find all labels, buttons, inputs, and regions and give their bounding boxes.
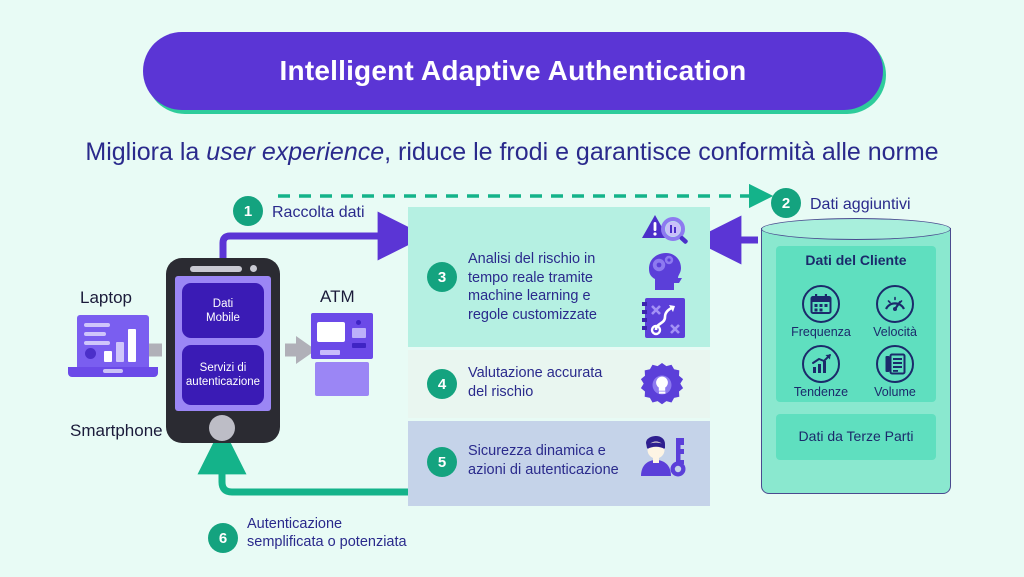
subtitle-emphasis: user experience [206,138,384,166]
document-stack-icon [876,345,914,383]
laptop-trackpad-notch [103,369,123,373]
data-store-cylinder-top [761,218,951,240]
atm-card-slot [352,328,366,338]
user-key-icon [638,436,690,483]
phone-card-servizi-autenticazione: Servizi di autenticazione [182,345,264,405]
metric-frequenza: Frequenza [785,285,857,339]
strategy-board-icon [640,296,688,345]
customer-data-heading: Dati del Cliente [776,252,936,268]
step-badge-6: 6 [208,523,238,553]
step-badge-5: 5 [427,447,457,477]
risk-magnifier-icon [640,213,690,254]
step-badge-4: 4 [427,369,457,399]
metric-volume: Volume [859,345,931,399]
metric-velocita: Velocità [859,285,931,339]
step-label-1: Raccolta dati [272,204,365,222]
step-badge-3: 3 [427,262,457,292]
step-badge-2: 2 [771,188,801,218]
step-4-line1: Valutazione accurata [468,365,602,381]
phone-card-1-line2: Mobile [206,312,240,324]
atm-indicator-light [356,320,361,325]
step-5-line1: Sicurezza dinamica e [468,443,606,459]
phone-card-2-line2: autenticazione [186,376,260,388]
gear-bulb-icon [639,362,685,413]
step-6-line2: semplificata o potenziata [247,534,407,550]
calendar-icon [802,285,840,323]
page-subtitle: Migliora la user experience, riduce le f… [0,138,1024,167]
flow-arrow-phone-to-analysis [223,236,400,258]
step-3-line2: tempo reale tramite [468,270,593,286]
smartphone-camera [250,265,257,272]
atm-label: ATM [320,287,355,307]
step-label-3: Analisi del rischio in tempo reale trami… [468,250,597,324]
laptop-icon [77,315,149,367]
atm-base [315,362,369,396]
metric-label-volume: Volume [859,385,931,399]
page-title: Intelligent Adaptive Authentication [280,55,747,87]
laptop-label: Laptop [80,288,132,308]
step-label-2: Dati aggiuntivi [810,196,911,214]
smartphone-label: Smartphone [70,421,163,441]
subtitle-part-before: Migliora la [85,138,206,166]
step-4-line2: del rischio [468,384,533,400]
step-3-line4: regole customizzate [468,307,597,323]
atm-keypad [320,350,340,355]
phone-card-dati-mobile: Dati Mobile [182,283,264,338]
subtitle-part-after: , riduce le frodi e garantisce conformit… [384,138,938,166]
infographic-canvas: Intelligent Adaptive Authentication Migl… [0,0,1024,577]
step-badge-1: 1 [233,196,263,226]
smartphone-speaker [190,266,242,272]
step-6-line1: Autenticazione [247,516,342,532]
step-label-6: Autenticazione semplificata o potenziata [247,515,407,551]
third-party-data-label: Dati da Terze Parti [776,428,936,444]
atm-cash-slot [352,343,366,348]
speedometer-icon [876,285,914,323]
title-pill: Intelligent Adaptive Authentication [143,32,883,110]
atm-screen [317,322,345,342]
smartphone-home-button [209,415,235,441]
step-label-4: Valutazione accurata del rischio [468,364,602,401]
metric-label-frequenza: Frequenza [785,325,857,339]
phone-card-1-line1: Dati [213,298,233,310]
step-3-line1: Analisi del rischio in [468,251,595,267]
metric-tendenze: Tendenze [785,345,857,399]
metric-label-velocita: Velocità [859,325,931,339]
phone-card-2-line1: Servizi di [200,362,247,374]
flow-arrow-auth-back-to-phone [222,452,408,492]
ai-head-gears-icon [641,252,689,297]
step-3-line3: machine learning e [468,288,591,304]
trending-chart-icon [802,345,840,383]
metric-label-tendenze: Tendenze [785,385,857,399]
step-5-line2: azioni di autenticazione [468,462,619,478]
step-label-5: Sicurezza dinamica e azioni di autentica… [468,442,619,479]
